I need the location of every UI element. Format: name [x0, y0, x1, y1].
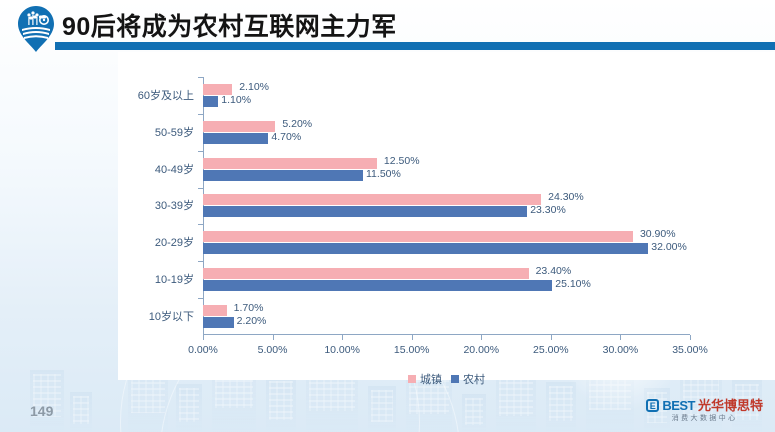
bar-value-label: 11.50% [366, 168, 401, 180]
x-axis-tick [342, 335, 343, 340]
x-axis-tick [273, 335, 274, 340]
chart-row: 30-39岁24.30%23.30% [203, 188, 690, 225]
page-number: 149 [30, 403, 53, 419]
y-axis-tick [198, 261, 203, 262]
bar-chart: 10岁以下1.70%2.20%10-19岁23.40%25.10%20-29岁3… [203, 77, 690, 335]
category-label: 50-59岁 [104, 124, 194, 140]
bar-value-label: 4.70% [271, 131, 301, 143]
legend-item[interactable]: 农村 [451, 371, 485, 387]
bar-value-label: 23.40% [536, 265, 572, 277]
chart-row: 10岁以下1.70%2.20% [203, 298, 690, 335]
slide-header: 90后将成为农村互联网主力军 [0, 0, 775, 52]
bar-urban [203, 121, 275, 132]
bar-value-label: 25.10% [555, 278, 591, 290]
x-axis-tick [412, 335, 413, 340]
x-axis-tick-label: 35.00% [672, 344, 708, 356]
x-axis-tick [620, 335, 621, 340]
bar-urban [203, 268, 529, 279]
bar-rural [203, 96, 218, 107]
chart-row: 40-49岁12.50%11.50% [203, 151, 690, 188]
category-label: 30-39岁 [104, 197, 194, 213]
bar-urban [203, 194, 541, 205]
bar-rural [203, 170, 363, 181]
x-axis-tick-label: 0.00% [188, 344, 218, 356]
chart-panel: 10岁以下1.70%2.20%10-19岁23.40%25.10%20-29岁3… [118, 52, 775, 380]
category-label: 60岁及以上 [104, 87, 194, 103]
x-axis-tick-label: 25.00% [533, 344, 569, 356]
chart-row: 20-29岁30.90%32.00% [203, 224, 690, 261]
x-axis-tick-label: 30.00% [603, 344, 639, 356]
x-axis-tick [551, 335, 552, 340]
x-axis-tick-label: 15.00% [394, 344, 430, 356]
y-axis-tick [198, 151, 203, 152]
bar-value-label: 2.10% [239, 81, 269, 93]
x-axis-tick [481, 335, 482, 340]
category-label: 10岁以下 [104, 308, 194, 324]
y-axis-tick [198, 298, 203, 299]
legend-swatch-icon [451, 375, 459, 383]
x-axis-tick [203, 335, 204, 340]
y-axis-tick [198, 224, 203, 225]
bar-urban [203, 231, 633, 242]
slide-canvas: 90后将成为农村互联网主力军 10岁以下1.70%2.20%10-19岁23.4… [0, 0, 775, 432]
y-axis-tick [198, 188, 203, 189]
category-label: 20-29岁 [104, 234, 194, 250]
bar-urban [203, 305, 227, 316]
bar-rural [203, 243, 648, 254]
farm-location-pin-icon [12, 4, 60, 56]
bar-value-label: 30.90% [640, 228, 676, 240]
bar-rural [203, 317, 234, 328]
legend-item[interactable]: 城镇 [408, 371, 442, 387]
chart-row: 50-59岁5.20%4.70% [203, 114, 690, 151]
category-label: 40-49岁 [104, 161, 194, 177]
bar-value-label: 1.70% [234, 302, 264, 314]
legend-label: 城镇 [420, 371, 442, 387]
brand-mark-icon: E [646, 399, 659, 412]
bar-value-label: 5.20% [282, 118, 312, 130]
bar-rural [203, 133, 268, 144]
chart-row: 10-19岁23.40%25.10% [203, 261, 690, 298]
chart-row: 60岁及以上2.10%1.10% [203, 77, 690, 114]
brand-subtitle: 消费大数据中心 [646, 415, 763, 422]
bar-rural [203, 280, 552, 291]
brand-logo: E BEST 光华博思特 消费大数据中心 [646, 399, 763, 422]
page-title: 90后将成为农村互联网主力军 [62, 7, 397, 43]
x-axis-tick-label: 20.00% [463, 344, 499, 356]
category-label: 10-19岁 [104, 271, 194, 287]
y-axis-tick [198, 114, 203, 115]
bar-value-label: 32.00% [651, 241, 687, 253]
bar-rural [203, 206, 527, 217]
x-axis-tick-label: 5.00% [258, 344, 288, 356]
bar-value-label: 23.30% [530, 204, 566, 216]
y-axis-tick [198, 77, 203, 78]
x-axis-tick [690, 335, 691, 340]
brand-name: BEST [662, 399, 695, 412]
bar-value-label: 2.20% [237, 315, 267, 327]
brand-name-cn: 光华博思特 [698, 399, 763, 412]
bar-value-label: 24.30% [548, 191, 584, 203]
chart-legend: 城镇农村 [203, 371, 690, 387]
bar-urban [203, 158, 377, 169]
bar-value-label: 1.10% [221, 94, 251, 106]
bar-value-label: 12.50% [384, 155, 420, 167]
legend-swatch-icon [408, 375, 416, 383]
title-underline-bar [55, 42, 775, 50]
legend-label: 农村 [463, 371, 485, 387]
x-axis-tick-label: 10.00% [324, 344, 360, 356]
